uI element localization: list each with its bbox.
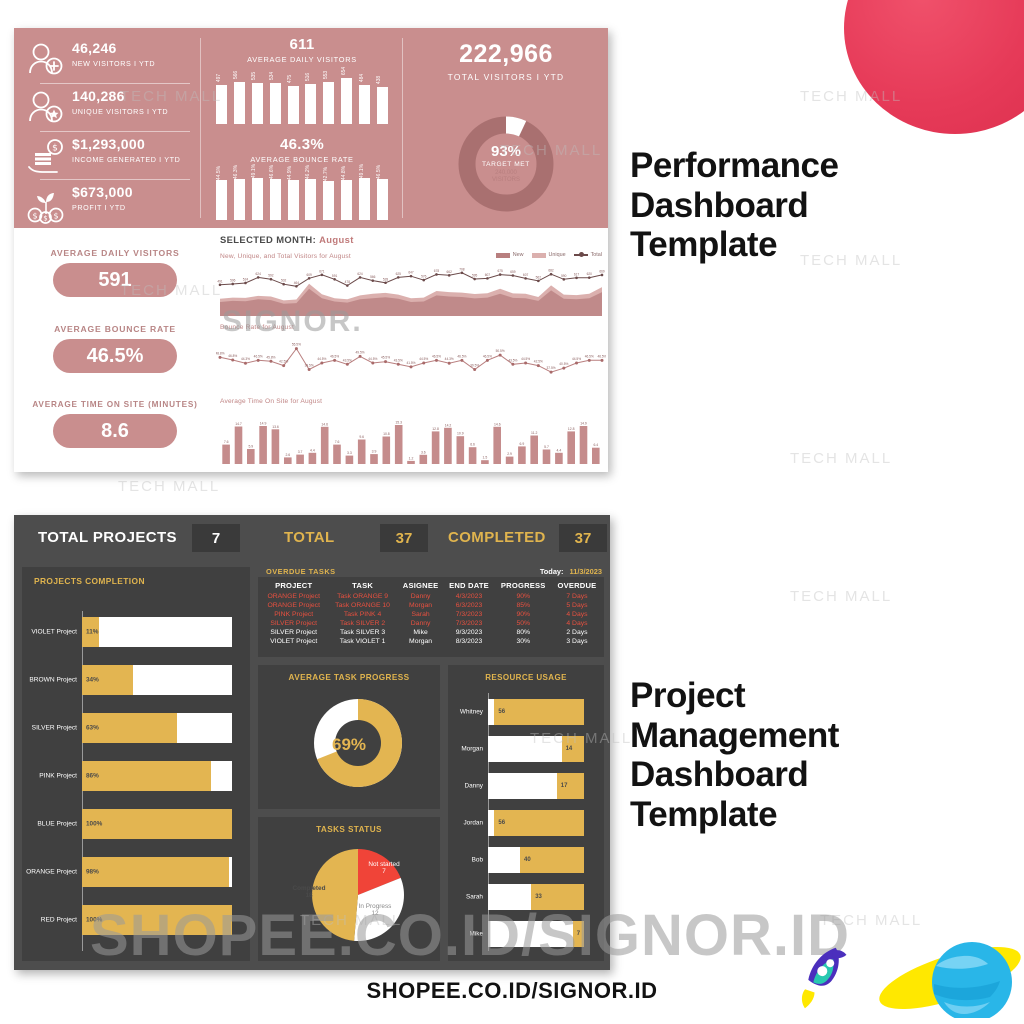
bar [321,427,329,464]
data-label: 502 [281,279,287,283]
data-point [219,356,222,359]
donut-subtext-number: 240,000 [495,170,517,176]
mini-bar: 654 [341,78,352,124]
data-point [410,365,413,368]
table-cell: 90% [495,592,552,601]
table-row[interactable]: ORANGE ProjectTask ORANGE 9Danny4/3/2023… [260,592,602,601]
data-label: 46.5% [432,354,441,358]
data-label: 6.6 [470,443,475,447]
heading-line: Performance [630,146,838,186]
data-point [448,362,451,365]
slice-label: Completed [278,885,340,892]
chart-title-time: Average Time On Site for August [220,398,322,405]
mini-bar-value: 44.9% [287,166,293,180]
data-label: 14.7 [235,422,242,426]
slice-value: 7 [354,868,414,875]
resource-value: 56 [498,820,505,826]
donut-percent: 93% [491,144,521,159]
kpi-band: 46,246 NEW VISITORS I YTD 140,286 [14,28,608,228]
resource-value: 33 [535,894,542,900]
data-label: 14.9 [260,422,267,426]
data-label: 10.8 [383,432,390,436]
data-point [575,361,578,364]
data-label: 682 [548,269,554,273]
mini-bar: 534 [270,83,281,124]
completion-value: 63% [86,725,99,732]
completion-project-name: VIOLET Project [31,629,77,636]
table-cell: Task ORANGE 9 [327,592,397,601]
bar [555,453,563,464]
chart-legend: New Unique Total [496,252,602,258]
kpi-value: 140,286 [72,88,125,104]
bar [259,426,267,464]
data-point [512,274,515,277]
mini-bar: 553 [323,82,334,124]
table-cell: ORANGE Project [260,592,327,601]
table-row[interactable]: SILVER ProjectTask SILVER 2Danny7/3/2023… [260,619,602,628]
bar [346,456,354,464]
table-cell: Task SILVER 3 [327,628,397,637]
data-label: 37.5% [547,366,556,370]
data-point [308,368,311,371]
table-row[interactable]: SILVER ProjectTask SILVER 3Mike9/3/20238… [260,628,602,637]
svg-text:$: $ [53,212,58,221]
bar [284,457,292,464]
data-label: 46.5% [483,354,492,358]
heading-project-management: Project Management Dashboard Template [630,676,839,834]
data-label: 6.4 [593,443,598,447]
data-label: 43.5% [508,358,517,362]
data-label: 45.8% [266,355,275,359]
selected-month[interactable]: SELECTED MONTH: August [220,234,354,245]
mini-bar: 46.5% [377,179,388,220]
svg-text:$: $ [32,212,37,221]
today-label: Today: [540,567,564,576]
new-visitor-icon [26,42,66,80]
mini-bar: 49.1% [252,178,263,220]
summary-value: 46.5% [53,339,177,373]
completion-bar-row[interactable]: BLUE Project100% [82,809,232,839]
bar [506,457,514,464]
performance-charts: SELECTED MONTH: August New, Unique, and … [212,228,608,472]
table-cell: PINK Project [260,610,327,619]
data-label: 13.6 [272,425,279,429]
bounce-line-chart: 48.8%46.8%44.3%46.5%45.8%42.5%55.5%39.5%… [216,332,606,382]
data-point [435,359,438,362]
data-point [435,273,438,276]
mini-bar: 46.2% [305,179,316,220]
kpi-value: $1,293,000 [72,136,145,152]
slice-label: In Progress [342,903,408,910]
data-point [295,285,298,288]
resource-value: 7 [577,931,580,937]
table-column-header: ASIGNEE [398,579,444,592]
data-point [550,371,553,374]
today-indicator: Today:11/3/2023 [540,567,602,576]
data-point [295,347,298,350]
table-column-header: PROJECT [260,579,327,592]
table-row[interactable]: ORANGE ProjectTask ORANGE 10Morgan6/3/20… [260,601,602,610]
resource-value: 40 [524,857,531,863]
kpi-label: PROFIT I YTD [72,203,126,212]
projects-header: TOTAL PROJECTS 7 TOTAL 37 COMPLETED 37 [14,515,610,561]
data-label: 9.6 [359,435,364,439]
completion-bar-row[interactable]: ORANGE Project98% [82,857,232,887]
bar [567,431,575,464]
completion-fill [82,761,211,791]
overdue-tasks-panel[interactable]: PROJECTTASKASIGNEEEND DATEPROGRESSOVERDU… [258,577,604,657]
data-label: 43.5% [394,358,403,362]
data-label: 595 [472,274,478,278]
data-label: 3.6 [421,450,426,454]
kpi-income-generated[interactable]: $ $1,293,000 INCOME GENERATED I YTD [26,134,196,180]
kpi-value: $673,000 [72,184,133,200]
data-label: 3.9 [372,450,377,454]
bar [530,436,538,465]
mini-bar-value: 535 [251,72,257,80]
table-cell: 7/3/2023 [443,619,494,628]
kpi-label: NEW VISITORS I YTD [72,59,155,68]
data-point [473,278,476,281]
data-label: 708 [459,267,465,271]
mini-bar-value: 516 [305,73,311,81]
heading-line: Dashboard [630,755,839,795]
data-point [308,277,311,280]
table-cell: SILVER Project [260,619,327,628]
data-label: 44.5% [368,357,377,361]
bar [457,436,465,464]
data-point [397,276,400,279]
table-cell: 8/3/2023 [443,637,494,646]
kpi-label: INCOME GENERATED I YTD [72,155,180,164]
bar [247,449,255,464]
table-cell: 4/3/2023 [443,592,494,601]
resource-usage-panel[interactable]: RESOURCE USAGE Whitney56Morgan14Danny17J… [448,665,604,961]
mini-bar-value: 566 [233,71,239,79]
data-label: 625 [396,272,402,276]
data-label: 46.5% [585,354,594,358]
heading-line: Dashboard [630,186,838,226]
legend-unique: Unique [532,252,566,258]
watermark-tech-mall: TECH MALL [790,450,892,467]
total-projects-value: 7 [192,524,240,552]
data-label: 675 [497,269,503,273]
bar [420,455,428,464]
chart-title-bounce: Bounce Rate for August [220,324,294,331]
mini-bar-value: 46.3% [233,165,239,179]
table-column-header: TASK [327,579,397,592]
bar [518,446,526,464]
data-point [588,359,591,362]
total-line [220,273,602,287]
data-label: 4.4 [310,448,315,452]
mini-bar: 46.6% [270,179,281,220]
data-label: 2.9 [507,452,512,456]
mini-bar: 566 [234,82,245,124]
table-row[interactable]: VIOLET ProjectTask VIOLET 1Morgan8/3/202… [260,637,602,646]
table-cell: 80% [495,628,552,637]
data-label: 478 [345,280,351,284]
kpi-label: UNIQUE VISITORS I YTD [72,107,168,116]
mini-bar-value: 44.5% [216,166,222,180]
bar [432,431,440,464]
data-label: 12.8 [432,427,439,431]
data-point [524,277,527,280]
data-label: 44.5% [572,357,581,361]
data-label: 14.9 [580,422,587,426]
resource-name: Jordan [463,820,483,827]
task-progress-center-value: 69% [258,735,440,755]
data-label: 647 [408,271,414,275]
table-cell: 6/3/2023 [443,601,494,610]
completion-bar-row[interactable]: BROWN Project34% [82,665,232,695]
completion-value: 11% [86,629,98,636]
data-label: 1.2 [409,456,414,460]
completion-bar-row[interactable]: VIOLET Project11% [82,617,232,647]
bar [370,454,378,464]
data-point [537,280,540,283]
data-label: 7.6 [335,440,340,444]
data-label: 678 [434,269,440,273]
table-cell: 4 Days [552,610,602,619]
resource-bar-row[interactable]: Jordan56 [488,810,584,836]
profit-icon: $ $ $ [26,186,66,224]
table-cell: 7/3/2023 [443,610,494,619]
visitors-area-chart: 4915065246245925024646096715914786245665… [216,262,606,318]
table-cell: 50% [495,619,552,628]
summary-avg-bounce-rate[interactable]: AVERAGE BOUNCE RATE 46.5% [20,324,210,373]
poster-canvas: TECH MALL TECH MALL TECH MALL TECH MALL … [0,0,1024,1024]
data-point [282,283,285,286]
data-point [244,362,247,365]
time-on-site-bar-chart: 7.614.75.914.913.62.63.74.414.67.63.39.6… [216,408,606,466]
summary-kpi-list: AVERAGE DAILY VISITORS 591 AVERAGE BOUNC… [20,234,210,470]
resource-bar-row[interactable]: Morgan14 [488,736,584,762]
bar [333,445,341,464]
unique-visitor-icon [26,90,66,128]
resource-bar-row[interactable]: Bob40 [488,847,584,873]
data-point [601,274,604,277]
resource-track [488,921,584,947]
chart-title-visitors: New, Unique, and Total Visitors for Augu… [220,253,351,260]
slice-value: 12 [342,910,408,917]
resource-bar-row[interactable]: Mike7 [488,921,584,947]
data-label: 44.5% [419,357,428,361]
data-label: 12.8 [568,427,575,431]
data-point [410,275,413,278]
resource-bar-row[interactable]: Danny17 [488,773,584,799]
bar [444,428,452,464]
table-column-header: OVERDUE [552,579,602,592]
kpi-separator [40,131,190,132]
data-label: 41.5% [406,361,415,365]
mini-bar: 535 [252,83,263,124]
completion-track [82,617,232,647]
table-cell: Task SILVER 2 [327,619,397,628]
completion-value: 98% [86,869,99,876]
heading-line: Template [630,225,838,265]
completion-bar-row[interactable]: PINK Project86% [82,761,232,791]
bar [395,425,403,464]
completion-bar-row[interactable]: SILVER Project63% [82,713,232,743]
mini-bar: 484 [359,85,370,124]
resource-name: Whitney [460,709,483,716]
mini-bar-value: 654 [341,67,347,75]
data-label: 1.5 [483,456,488,460]
table-cell: Danny [398,592,444,601]
table-cell: 9/3/2023 [443,628,494,637]
svg-text:$: $ [43,215,47,223]
completion-fill [82,809,232,839]
today-value: 11/3/2023 [570,567,602,576]
table-cell: Task VIOLET 1 [327,637,397,646]
total-visitors-value: 222,966 [404,40,608,69]
completion-project-name: BLUE Project [37,821,77,828]
table-header-row: PROJECTTASKASIGNEEEND DATEPROGRESSOVERDU… [260,579,602,592]
data-label: 46.5% [457,354,466,358]
table-cell: 2 Days [552,628,602,637]
data-point [575,277,578,280]
data-label: 11.2 [531,431,537,435]
data-point [524,361,527,364]
data-point [384,281,387,284]
watermark-tech-mall: TECH MALL [118,478,220,495]
mini-bar-value: 484 [359,74,365,82]
data-label: 524 [243,277,249,281]
mini-bar-value: 49.1% [359,164,365,178]
signor-rocket-planet-logo [774,926,1024,1018]
data-point [486,277,489,280]
resource-name: Mike [470,931,484,938]
bar [309,453,317,464]
data-point [231,358,234,361]
data-point [333,359,336,362]
completion-value: 86% [86,773,99,780]
table-row[interactable]: PINK ProjectTask PINK 4Sarah7/3/202390%4… [260,610,602,619]
bar [592,448,600,464]
avg-daily-visitors-value: 611 [204,36,400,53]
data-point [563,278,566,281]
table-cell: 7 Days [552,592,602,601]
data-label: 624 [357,272,363,276]
data-label: 14.2 [445,423,452,427]
mini-bar: 44.5% [216,180,227,220]
data-label: 14.6 [321,422,328,426]
projects-completion-panel[interactable]: PROJECTS COMPLETION VIOLET Project11%BRO… [22,567,250,961]
legend-total: Total [574,252,602,258]
resource-bar-row[interactable]: Whitney56 [488,699,584,725]
bar [235,427,243,465]
data-label: 46.5% [330,354,339,358]
table-cell: Danny [398,619,444,628]
kpi-profit[interactable]: $ $ $ $673,000 PROFIT I YTD [26,182,196,228]
resource-name: Morgan [461,746,483,753]
data-label: 44.5% [317,357,326,361]
mini-bar: 497 [216,85,227,124]
performance-dashboard[interactable]: 46,246 NEW VISITORS I YTD 140,286 [14,28,608,472]
data-label: 50.5% [496,349,505,353]
status-in-progress: In Progress 12 [342,903,408,917]
average-task-progress-panel[interactable]: AVERAGE TASK PROGRESS 69% [258,665,440,809]
completion-bar-row[interactable]: RED Project100% [82,905,232,935]
data-label: 44.5% [521,357,530,361]
data-label: 624 [256,272,262,276]
resource-name: Bob [472,857,483,864]
data-point [231,283,234,286]
data-label: 464 [294,281,300,285]
total-visitors-label: TOTAL VISITORS I YTD [404,72,608,82]
status-not-started: Not started 7 [354,861,414,875]
legend-label: New [513,252,524,258]
resource-bar-row[interactable]: Sarah33 [488,884,584,910]
summary-avg-time-on-site[interactable]: AVERAGE TIME ON SITE (MINUTES) 8.6 [20,400,210,448]
summary-label: AVERAGE DAILY VISITORS [20,248,210,258]
data-label: 43.5% [343,358,352,362]
mini-bar-value: 42.7% [323,167,329,181]
data-label: 42.5% [534,360,543,364]
tasks-status-panel[interactable]: TASKS STATUS Not started 7 In Progress 1… [258,817,440,961]
legend-new: New [496,252,524,258]
completed-tasks-label: COMPLETED [448,529,546,546]
table-cell: Sarah [398,610,444,619]
table-cell: Morgan [398,601,444,610]
bar [296,455,304,464]
data-label: 6.9 [520,442,525,446]
heading-line: Template [630,795,839,835]
completed-tasks-value: 37 [559,524,607,552]
table-cell: 3 Days [552,637,602,646]
data-point [397,363,400,366]
kpi-unique-visitors[interactable]: 140,286 UNIQUE VISITORS I YTD [26,86,196,132]
data-label: 4.4 [557,448,562,452]
heading-line: Management [630,716,839,756]
data-point [384,360,387,363]
data-point [511,363,514,366]
data-label: 46.5% [254,354,263,358]
data-point [346,284,349,287]
bar [469,447,477,464]
overdue-tasks-table[interactable]: PROJECTTASKASIGNEEEND DATEPROGRESSOVERDU… [260,579,602,646]
table-cell: 85% [495,601,552,610]
resource-name: Sarah [466,894,483,901]
kpi-new-visitors[interactable]: 46,246 NEW VISITORS I YTD [26,38,196,84]
data-point [321,274,324,277]
completion-value: 100% [86,821,102,828]
resource-fill [494,810,584,836]
kpi-right-column: 222,966 TOTAL VISITORS I YTD 93% TARGET … [404,28,608,228]
completion-project-name: ORANGE Project [26,869,77,876]
table-cell: Task ORANGE 10 [327,601,397,610]
kpi-divider [402,38,403,218]
table-cell: Morgan [398,637,444,646]
summary-avg-daily-visitors[interactable]: AVERAGE DAILY VISITORS 591 [20,248,210,297]
data-label: 10.9 [457,432,464,436]
table-cell: Task PINK 4 [327,610,397,619]
mini-bar-value: 46.2% [305,165,311,179]
table-cell: 5 Days [552,601,602,610]
data-label: 46.5% [597,354,606,358]
data-label: 671 [319,269,325,273]
data-point [269,360,272,363]
mini-bar-value: 553 [323,71,329,79]
data-point [550,273,553,276]
resource-name: Danny [465,783,483,790]
project-management-dashboard[interactable]: TOTAL PROJECTS 7 TOTAL 37 COMPLETED 37 P… [14,515,610,970]
status-completed: Completed 18 [278,885,340,899]
slice-label: Not started [354,861,414,868]
data-point [588,276,591,279]
completion-fill [82,905,232,935]
